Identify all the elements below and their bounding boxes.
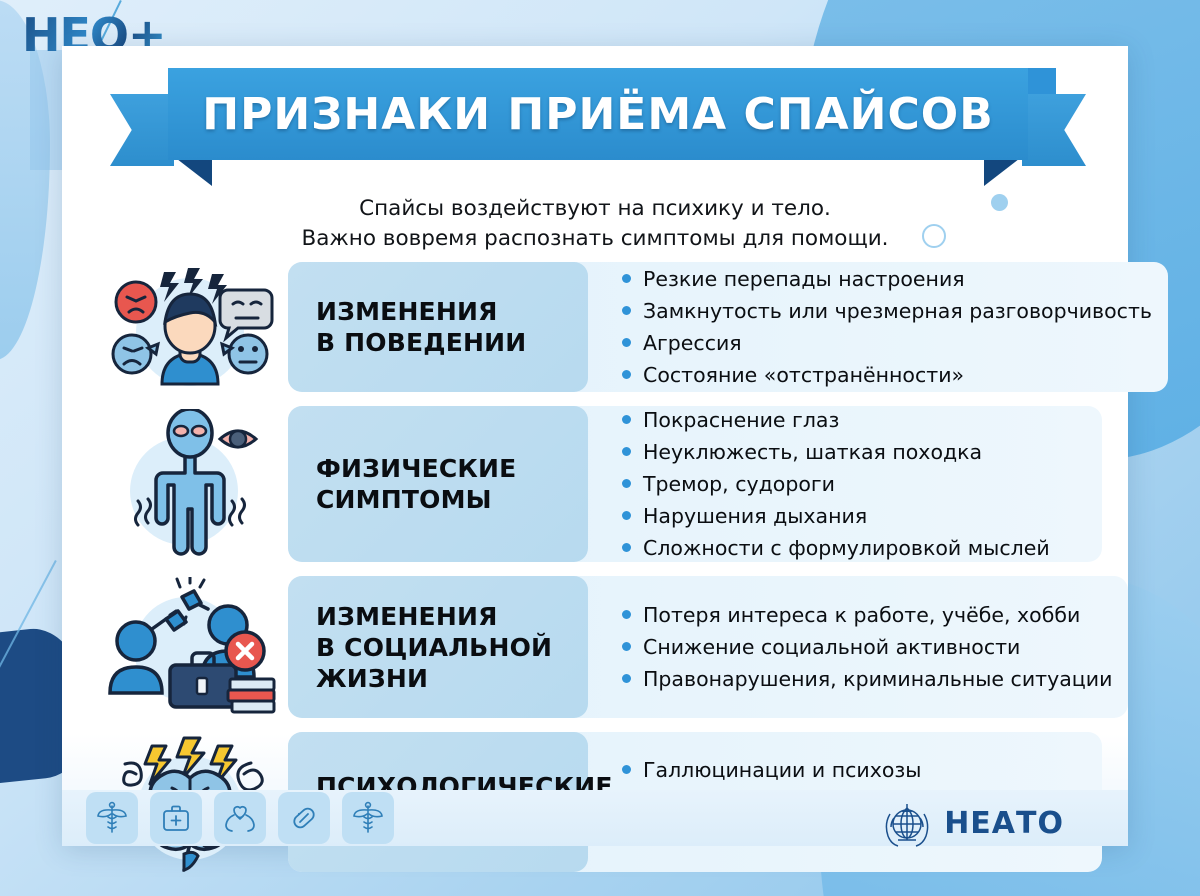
caduceus-icon — [342, 792, 394, 844]
list-item-text: Агрессия — [643, 330, 742, 357]
section-label-text: ФИЗИЧЕСКИЕ СИМПТОМЫ — [316, 453, 516, 515]
subtitle-line-1: Спайсы воздействуют на психику и тело. — [124, 194, 1066, 224]
bullet-dot-icon — [622, 338, 631, 347]
bullet-dot-icon — [622, 674, 631, 683]
first-aid-kit-icon — [150, 792, 202, 844]
poster-card-inner: ПРИЗНАКИ ПРИЁМА СПАЙСОВ Спайсы воздейств… — [62, 46, 1128, 846]
bullet-dot-icon — [622, 370, 631, 379]
ribbon-banner: ПРИЗНАКИ ПРИЁМА СПАЙСОВ — [168, 68, 1028, 160]
section-row: ФИЗИЧЕСКИЕ СИМПТОМЫ Покраснение глаз Неу… — [92, 406, 1102, 562]
section-body: ИЗМЕНЕНИЯ В ПОВЕДЕНИИ Резкие перепады на… — [288, 262, 1168, 392]
section-row: ИЗМЕНЕНИЯ В СОЦИАЛЬНОЙ ЖИЗНИ Потеря инте… — [92, 576, 1102, 718]
list-item: Состояние «отстранённости» — [622, 362, 1152, 389]
list-item: Замкнутость или чрезмерная разговорчивос… — [622, 298, 1152, 325]
trembling-body-icon — [92, 406, 288, 562]
section-body: ИЗМЕНЕНИЯ В СОЦИАЛЬНОЙ ЖИЗНИ Потеря инте… — [288, 576, 1128, 718]
section-items: Покраснение глаз Неуклюжесть, шаткая пох… — [588, 406, 1102, 562]
list-item: Тремор, судороги — [622, 471, 1086, 498]
bullet-dot-icon — [622, 415, 631, 424]
list-item: Сложности с формулировкой мыслей — [622, 535, 1086, 562]
section-body: ФИЗИЧЕСКИЕ СИМПТОМЫ Покраснение глаз Неу… — [288, 406, 1102, 562]
list-item-text: Неуклюжесть, шаткая походка — [643, 439, 982, 466]
footer-icon-strip — [86, 792, 394, 844]
bullet-dot-icon — [622, 610, 631, 619]
list-item: Резкие перепады настроения — [622, 266, 1152, 293]
bullet-dot-icon — [622, 479, 631, 488]
section-items: Резкие перепады настроения Замкнутость и… — [588, 262, 1168, 392]
ribbon-tail-left — [110, 94, 174, 166]
bullet-dot-icon — [622, 511, 631, 520]
list-item: Покраснение глаз — [622, 407, 1086, 434]
caduceus-icon — [86, 792, 138, 844]
list-item: Нарушения дыхания — [622, 503, 1086, 530]
page-title: ПРИЗНАКИ ПРИЁМА СПАЙСОВ — [202, 89, 993, 140]
list-item-text: Состояние «отстранённости» — [643, 362, 964, 389]
pill-capsule-icon — [278, 792, 330, 844]
list-item: Неуклюжесть, шаткая походка — [622, 439, 1086, 466]
section-label: ИЗМЕНЕНИЯ В ПОВЕДЕНИИ — [288, 262, 588, 392]
bullet-dot-icon — [622, 642, 631, 651]
subtitle-line-2: Важно вовремя распознать симптомы для по… — [124, 224, 1066, 254]
subtitle: Спайсы воздействуют на психику и тело. В… — [124, 194, 1066, 254]
list-item-text: Потеря интереса к работе, учёбе, хобби — [643, 602, 1080, 629]
broken-social-link-icon — [92, 576, 288, 718]
bullet-dot-icon — [622, 447, 631, 456]
title-ribbon: ПРИЗНАКИ ПРИЁМА СПАЙСОВ — [168, 60, 1028, 170]
list-item-text: Тремор, судороги — [643, 471, 835, 498]
mood-swings-icon — [92, 262, 288, 392]
section-label-text: ИЗМЕНЕНИЯ В СОЦИАЛЬНОЙ ЖИЗНИ — [316, 601, 552, 694]
list-item: Потеря интереса к работе, учёбе, хобби — [622, 602, 1112, 629]
poster-card: ПРИЗНАКИ ПРИЁМА СПАЙСОВ Спайсы воздейств… — [62, 46, 1128, 846]
list-item: Галлюцинации и психозы — [622, 757, 1086, 784]
list-item-text: Правонарушения, криминальные ситуации — [643, 666, 1112, 693]
list-item-text: Резкие перепады настроения — [643, 266, 965, 293]
section-label: ИЗМЕНЕНИЯ В СОЦИАЛЬНОЙ ЖИЗНИ — [288, 576, 588, 718]
list-item: Агрессия — [622, 330, 1152, 357]
organization-name: НЕАТО — [944, 806, 1064, 841]
bullet-dot-icon — [622, 765, 631, 774]
infographic-poster: НЕО+ ПРИЗНАКИ ПРИЁМА СПАЙСОВ Спайсы возд… — [0, 0, 1200, 896]
bullet-dot-icon — [622, 306, 631, 315]
list-item-text: Покраснение глаз — [643, 407, 839, 434]
section-row: ИЗМЕНЕНИЯ В ПОВЕДЕНИИ Резкие перепады на… — [92, 262, 1102, 392]
ribbon-tail-right — [1022, 94, 1086, 166]
who-emblem-icon — [878, 794, 936, 852]
list-item: Правонарушения, криминальные ситуации — [622, 666, 1112, 693]
section-label: ФИЗИЧЕСКИЕ СИМПТОМЫ — [288, 406, 588, 562]
organization-mark: НЕАТО — [878, 794, 1064, 852]
list-item-text: Нарушения дыхания — [643, 503, 867, 530]
section-items: Потеря интереса к работе, учёбе, хобби С… — [588, 576, 1128, 718]
bullet-dot-icon — [622, 543, 631, 552]
list-item: Снижение социальной активности — [622, 634, 1112, 661]
section-label-text: ИЗМЕНЕНИЯ В ПОВЕДЕНИИ — [316, 296, 526, 358]
list-item-text: Галлюцинации и психозы — [643, 757, 921, 784]
list-item-text: Снижение социальной активности — [643, 634, 1020, 661]
footer-bar: НЕАТО — [62, 790, 1128, 846]
list-item-text: Замкнутость или чрезмерная разговорчивос… — [643, 298, 1152, 325]
list-item-text: Сложности с формулировкой мыслей — [643, 535, 1050, 562]
heart-in-hands-icon — [214, 792, 266, 844]
bullet-dot-icon — [622, 274, 631, 283]
